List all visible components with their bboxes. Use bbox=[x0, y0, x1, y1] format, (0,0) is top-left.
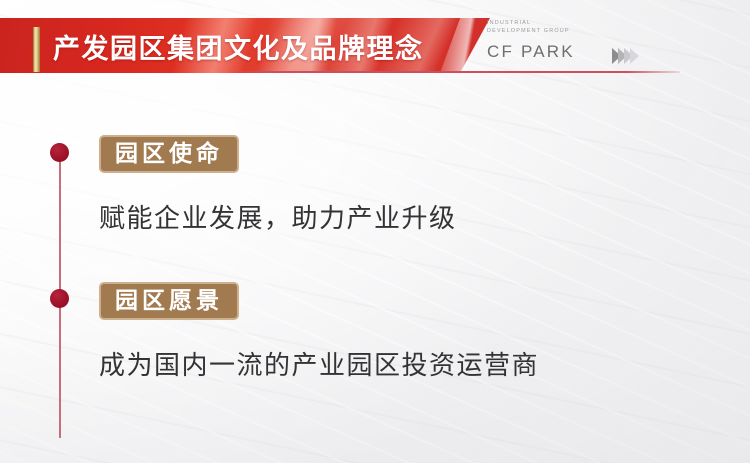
brand-logo-subline-1: INDUSTRIAL bbox=[487, 19, 637, 27]
content-block: 园区使命 赋能企业发展，助力产业升级 bbox=[99, 135, 457, 235]
brand-logo-subline-2: DEVELOPMENT GROUP bbox=[487, 27, 637, 35]
slide-canvas: 产发园区集团文化及品牌理念 INDUSTRIAL DEVELOPMENT GRO… bbox=[0, 0, 750, 463]
timeline-dot-icon bbox=[50, 143, 69, 162]
block-statement-text: 成为国内一流的产业园区投资运营商 bbox=[99, 345, 539, 382]
timeline-dot-icon bbox=[50, 289, 69, 308]
status-badge: 园区愿景 bbox=[99, 282, 239, 320]
page-title: 产发园区集团文化及品牌理念 bbox=[53, 27, 424, 72]
header-divider-rule bbox=[228, 71, 680, 73]
block-statement-text: 赋能企业发展，助力产业升级 bbox=[99, 198, 457, 235]
content-block: 园区愿景 成为国内一流的产业园区投资运营商 bbox=[99, 282, 539, 382]
header-banner-region: 产发园区集团文化及品牌理念 INDUSTRIAL DEVELOPMENT GRO… bbox=[0, 0, 750, 92]
gold-accent-bar-icon bbox=[33, 27, 40, 72]
status-badge: 园区使命 bbox=[99, 135, 239, 173]
chevron-right-icon-group bbox=[612, 48, 636, 64]
chevron-right-icon bbox=[630, 48, 639, 64]
